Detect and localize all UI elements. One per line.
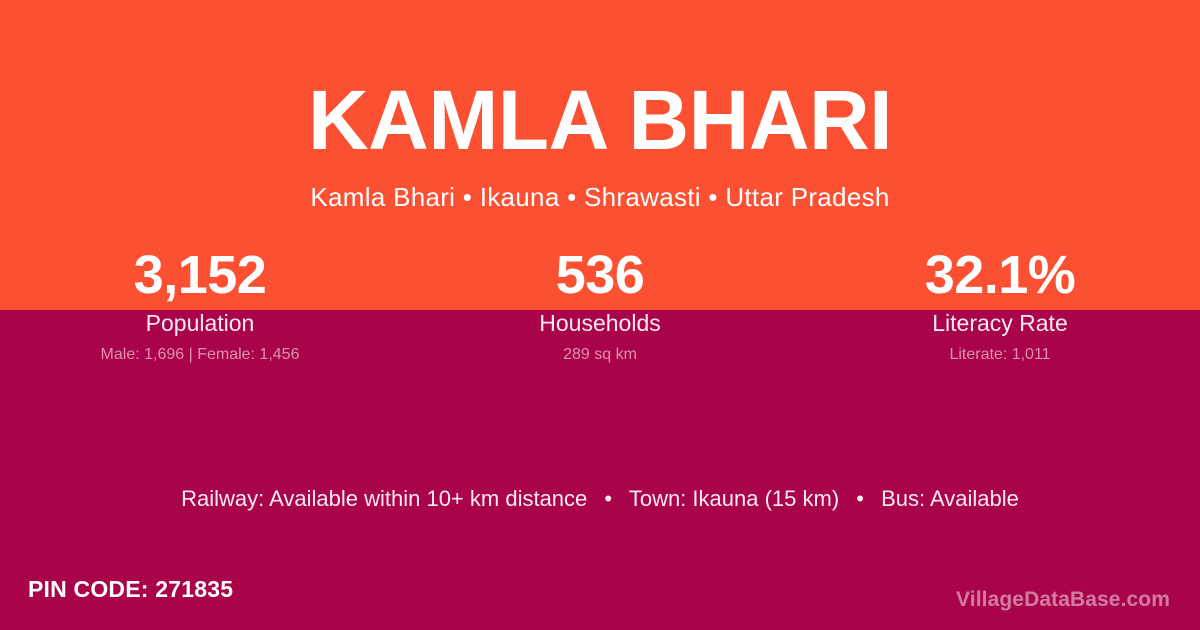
stat-literacy-rate: 32.1% Literacy Rate Literate: 1,011: [800, 246, 1200, 364]
amenities-line: Railway: Available within 10+ km distanc…: [0, 485, 1200, 513]
stat-population-label: Population: [0, 310, 400, 336]
stat-literacy-rate-label: Literacy Rate: [800, 310, 1200, 336]
stat-population-value: 3,152: [0, 246, 400, 304]
site-watermark: VillageDataBase.com: [956, 587, 1170, 613]
amenity-railway: Railway: Available within 10+ km distanc…: [181, 486, 587, 511]
amenity-town: Town: Ikauna (15 km): [629, 486, 839, 511]
stat-households-value: 536: [400, 246, 800, 304]
stats-row: 3,152 Population Male: 1,696 | Female: 1…: [0, 246, 1200, 364]
stat-literacy-rate-detail: Literate: 1,011: [800, 345, 1200, 364]
stat-literacy-rate-value: 32.1%: [800, 246, 1200, 304]
stat-population-detail: Male: 1,696 | Female: 1,456: [0, 345, 400, 364]
stat-households-label: Households: [400, 310, 800, 336]
village-info-card: KAMLA BHARI Kamla Bhari • Ikauna • Shraw…: [0, 0, 1200, 630]
breadcrumb: Kamla Bhari • Ikauna • Shrawasti • Uttar…: [0, 183, 1200, 213]
amenity-bus: Bus: Available: [881, 486, 1019, 511]
pin-code: PIN CODE: 271835: [28, 575, 233, 603]
amenity-separator-2: •: [845, 485, 875, 513]
stat-population: 3,152 Population Male: 1,696 | Female: 1…: [0, 246, 400, 364]
stat-households: 536 Households 289 sq km: [400, 246, 800, 364]
page-title: KAMLA BHARI: [0, 78, 1200, 162]
stat-households-detail: 289 sq km: [400, 345, 800, 364]
amenity-separator-1: •: [593, 485, 623, 513]
